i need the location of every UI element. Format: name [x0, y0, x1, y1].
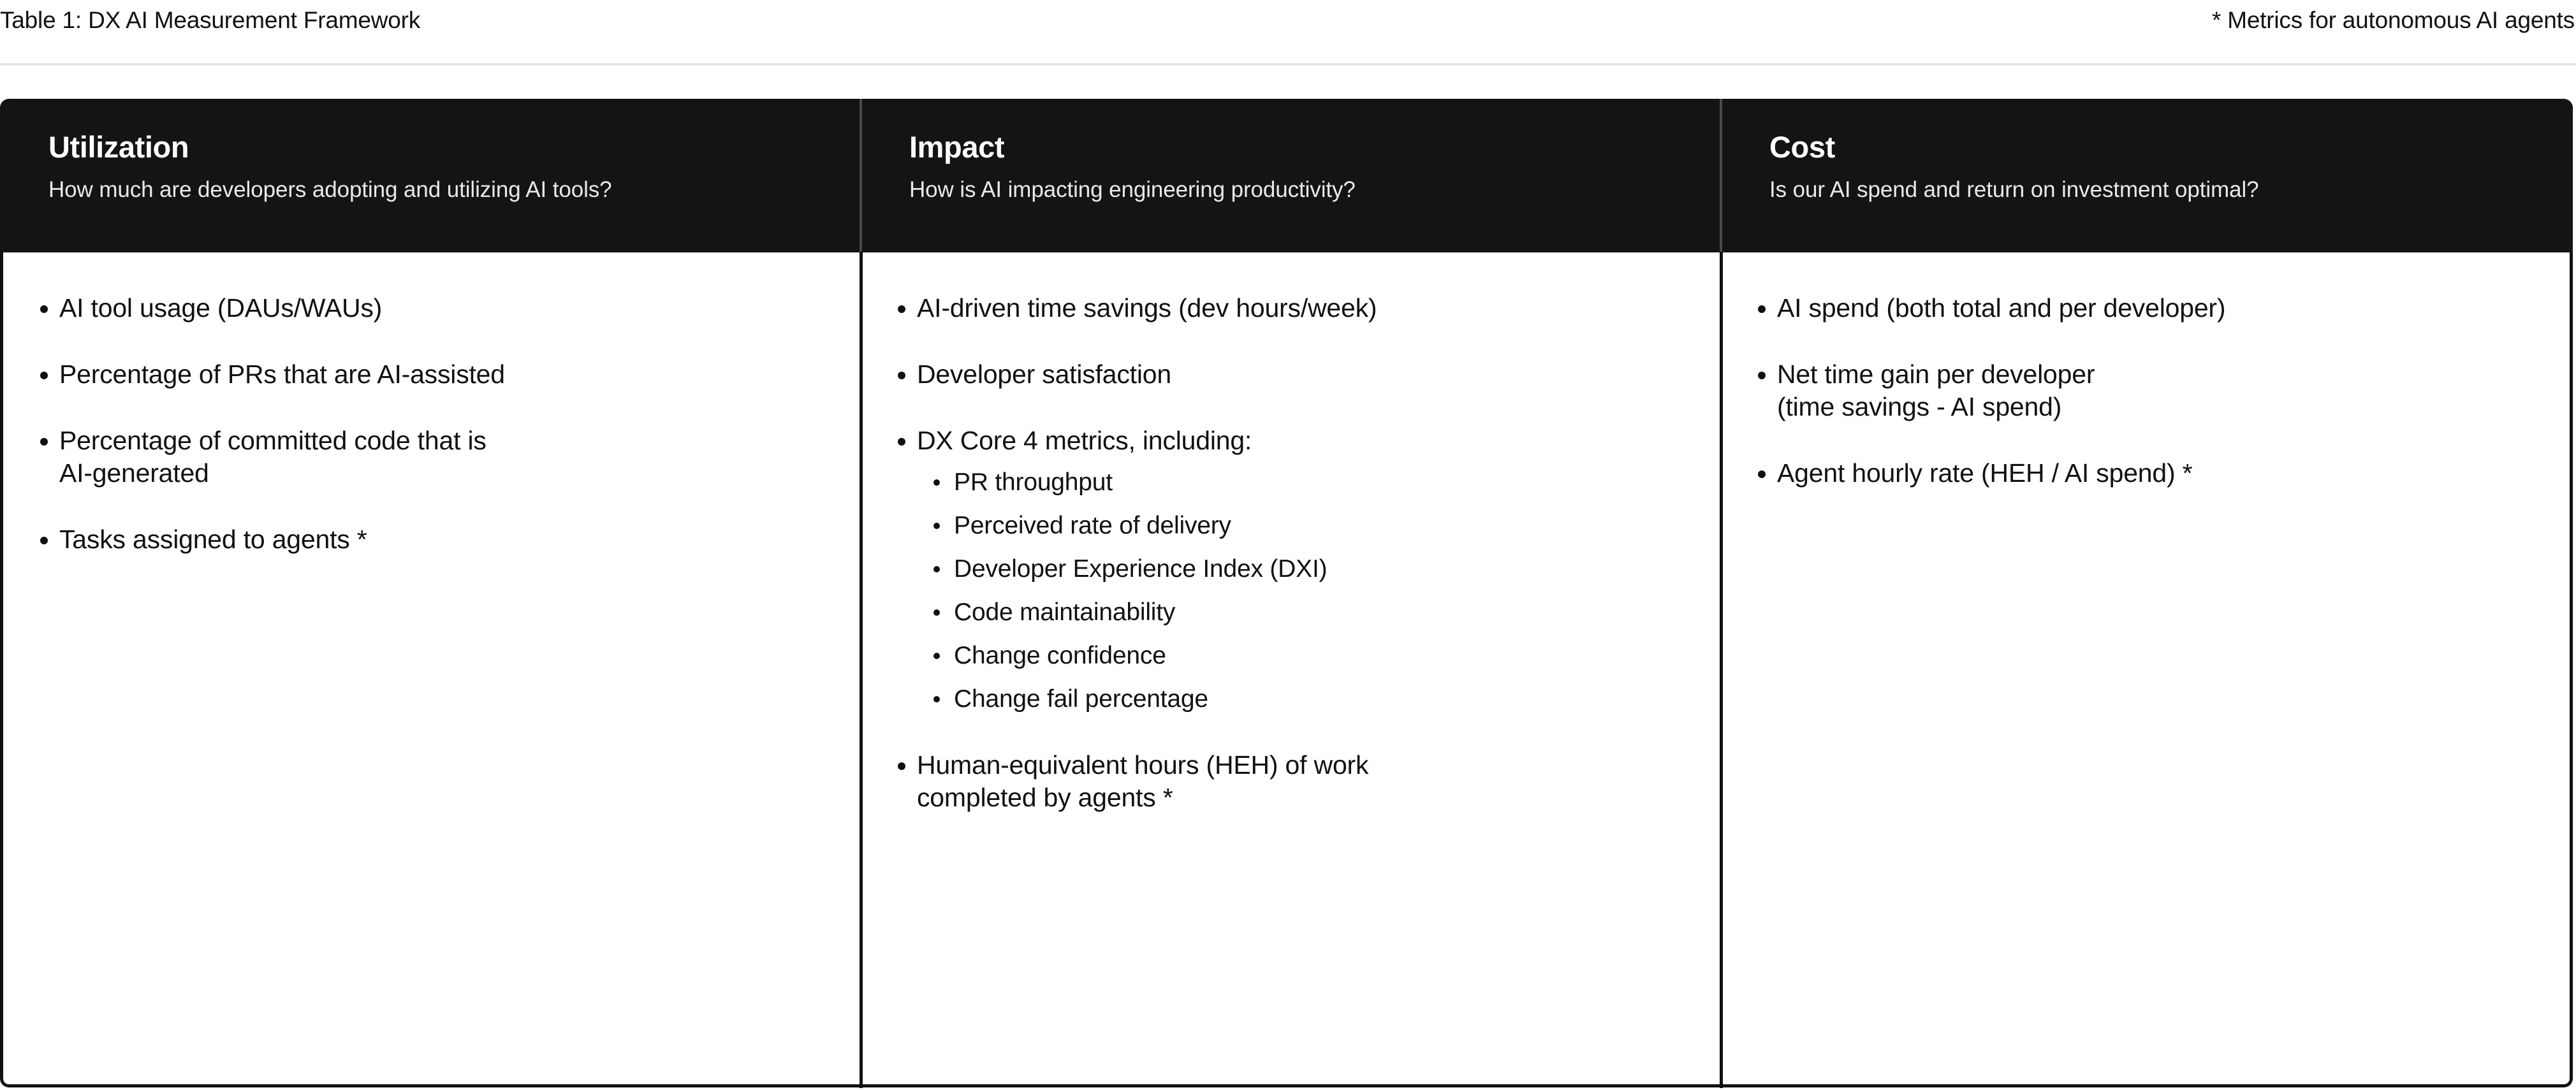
- list-item-label: AI spend (both total and per developer): [1777, 292, 2538, 324]
- header-subtitle-impact: How is AI impacting engineering producti…: [909, 177, 1721, 203]
- measurement-framework-table: Utilization How much are developers adop…: [0, 99, 2573, 1087]
- bullet-icon: [898, 305, 905, 313]
- list-item: Perceived rate of delivery: [917, 509, 1689, 542]
- bullet-icon: [40, 438, 48, 446]
- list-item-label: Human-equivalent hours (HEH) of work com…: [917, 749, 1689, 814]
- list-item: Change confidence: [917, 639, 1689, 672]
- list-item: Percentage of PRs that are AI-assisted: [17, 358, 829, 391]
- list-item-label: Perceived rate of delivery: [954, 509, 1689, 542]
- bullet-icon: [933, 696, 940, 702]
- header-title-cost: Cost: [1769, 129, 2573, 165]
- bullet-icon: [40, 372, 48, 379]
- body-cell-impact: AI-driven time savings (dev hours/week) …: [861, 252, 1721, 1084]
- bullet-icon: [40, 305, 48, 313]
- list-item: Change fail percentage: [917, 683, 1689, 715]
- table-caption-title: Table 1: DX AI Measurement Framework: [0, 0, 420, 34]
- list-item-label: Developer Experience Index (DXI): [954, 553, 1689, 585]
- list-item: AI spend (both total and per developer): [1735, 292, 2538, 324]
- header-subtitle-utilization: How much are developers adopting and uti…: [48, 177, 861, 203]
- header-cell-cost: Cost Is our AI spend and return on inves…: [1721, 99, 2573, 252]
- metric-list-cost: AI spend (both total and per developer) …: [1735, 292, 2538, 490]
- metric-list-impact: AI-driven time savings (dev hours/week) …: [875, 292, 1689, 814]
- header-cell-utilization: Utilization How much are developers adop…: [0, 99, 861, 252]
- list-item-label: Percentage of PRs that are AI-assisted: [59, 358, 829, 391]
- list-item: Percentage of committed code that is AI-…: [17, 425, 829, 490]
- list-item: Agent hourly rate (HEH / AI spend) *: [1735, 457, 2538, 490]
- list-item-label: Change fail percentage: [954, 683, 1689, 715]
- table-figure: Table 1: DX AI Measurement Framework * M…: [0, 0, 2576, 1090]
- list-item-label: Developer satisfaction: [917, 358, 1689, 391]
- bullet-icon: [933, 479, 940, 486]
- bullet-icon: [898, 438, 905, 446]
- metric-list-utilization: AI tool usage (DAUs/WAUs) Percentage of …: [17, 292, 829, 556]
- header-title-impact: Impact: [909, 129, 1721, 165]
- list-item-label: DX Core 4 metrics, including:: [917, 425, 1689, 457]
- list-item: DX Core 4 metrics, including: PR through…: [875, 425, 1689, 715]
- list-item-label: Tasks assigned to agents *: [59, 523, 829, 556]
- bullet-icon: [933, 566, 940, 572]
- body-cell-cost: AI spend (both total and per developer) …: [1721, 252, 2570, 1084]
- header-subtitle-cost: Is our AI spend and return on investment…: [1769, 177, 2573, 203]
- list-item: PR throughput: [917, 466, 1689, 498]
- metric-sublist-dx-core-4: PR throughput Perceived rate of delivery…: [917, 466, 1689, 715]
- bullet-icon: [1758, 372, 1766, 379]
- list-item: Code maintainability: [917, 596, 1689, 629]
- table-body-row: AI tool usage (DAUs/WAUs) Percentage of …: [0, 252, 2573, 1087]
- list-item-label: AI tool usage (DAUs/WAUs): [59, 292, 829, 324]
- list-item-label: Percentage of committed code that is AI-…: [59, 425, 829, 490]
- list-item-label: Agent hourly rate (HEH / AI spend) *: [1777, 457, 2538, 490]
- list-item: Developer satisfaction: [875, 358, 1689, 391]
- body-cell-utilization: AI tool usage (DAUs/WAUs) Percentage of …: [3, 252, 861, 1084]
- list-item: Developer Experience Index (DXI): [917, 553, 1689, 585]
- bullet-icon: [898, 762, 905, 770]
- bullet-icon: [1758, 470, 1766, 478]
- list-item-label: Change confidence: [954, 639, 1689, 672]
- list-item: Tasks assigned to agents *: [17, 523, 829, 556]
- list-item: Human-equivalent hours (HEH) of work com…: [875, 749, 1689, 814]
- bullet-icon: [933, 653, 940, 659]
- caption-row: Table 1: DX AI Measurement Framework * M…: [0, 0, 2576, 66]
- bullet-icon: [40, 537, 48, 544]
- list-item-label: AI-driven time savings (dev hours/week): [917, 292, 1689, 324]
- list-item-label: Code maintainability: [954, 596, 1689, 629]
- header-title-utilization: Utilization: [48, 129, 861, 165]
- bullet-icon: [933, 523, 940, 529]
- list-item-label: Net time gain per developer (time saving…: [1777, 358, 2538, 423]
- table-header-row: Utilization How much are developers adop…: [0, 99, 2573, 252]
- list-item-label: PR throughput: [954, 466, 1689, 498]
- list-item: Net time gain per developer (time saving…: [1735, 358, 2538, 423]
- table-footnote: * Metrics for autonomous AI agents: [2212, 0, 2576, 34]
- header-cell-impact: Impact How is AI impacting engineering p…: [861, 99, 1721, 252]
- bullet-icon: [898, 372, 905, 379]
- list-item: AI-driven time savings (dev hours/week): [875, 292, 1689, 324]
- bullet-icon: [933, 609, 940, 616]
- list-item: AI tool usage (DAUs/WAUs): [17, 292, 829, 324]
- bullet-icon: [1758, 305, 1766, 313]
